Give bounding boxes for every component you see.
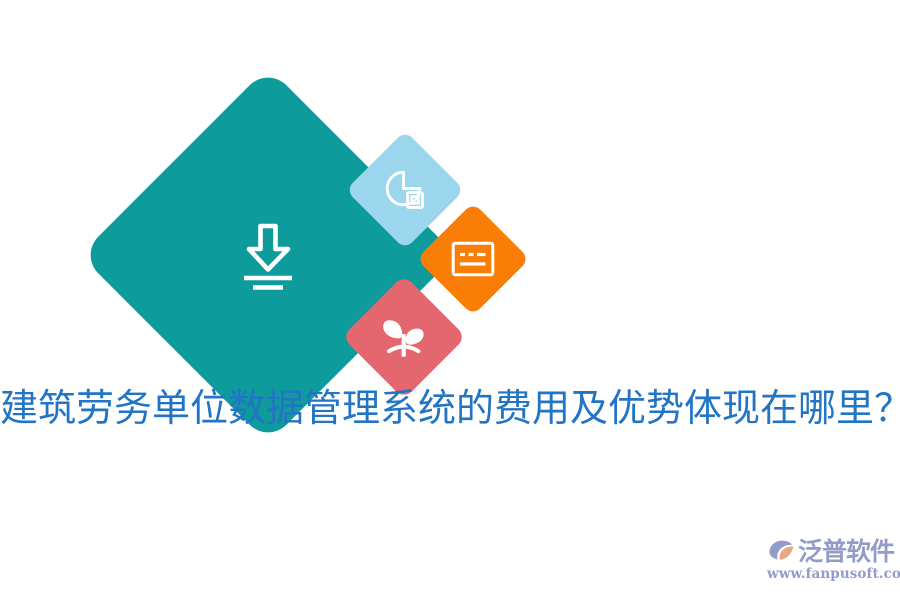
download-icon — [229, 216, 307, 294]
watermark-brand-row: 泛普软件 — [766, 536, 894, 568]
sprout-icon — [379, 314, 429, 360]
diamond-icon-cluster — [0, 0, 900, 600]
page-title: 建筑劳务单位数据管理系统的费用及优势体现在哪里？ — [0, 383, 900, 433]
watermark-brand-name: 泛普软件 — [798, 537, 894, 567]
pie-chart-icon — [384, 169, 426, 211]
card-icon — [451, 241, 495, 277]
watermark-url: www.fanpusoft.com — [766, 566, 894, 582]
page-canvas: 建筑劳务单位数据管理系统的费用及优势体现在哪里？ 泛普软件 www.fanpus… — [0, 0, 900, 600]
watermark-logo: 泛普软件 www.fanpusoft.com — [766, 536, 894, 588]
fanpu-logo-icon — [766, 537, 796, 567]
